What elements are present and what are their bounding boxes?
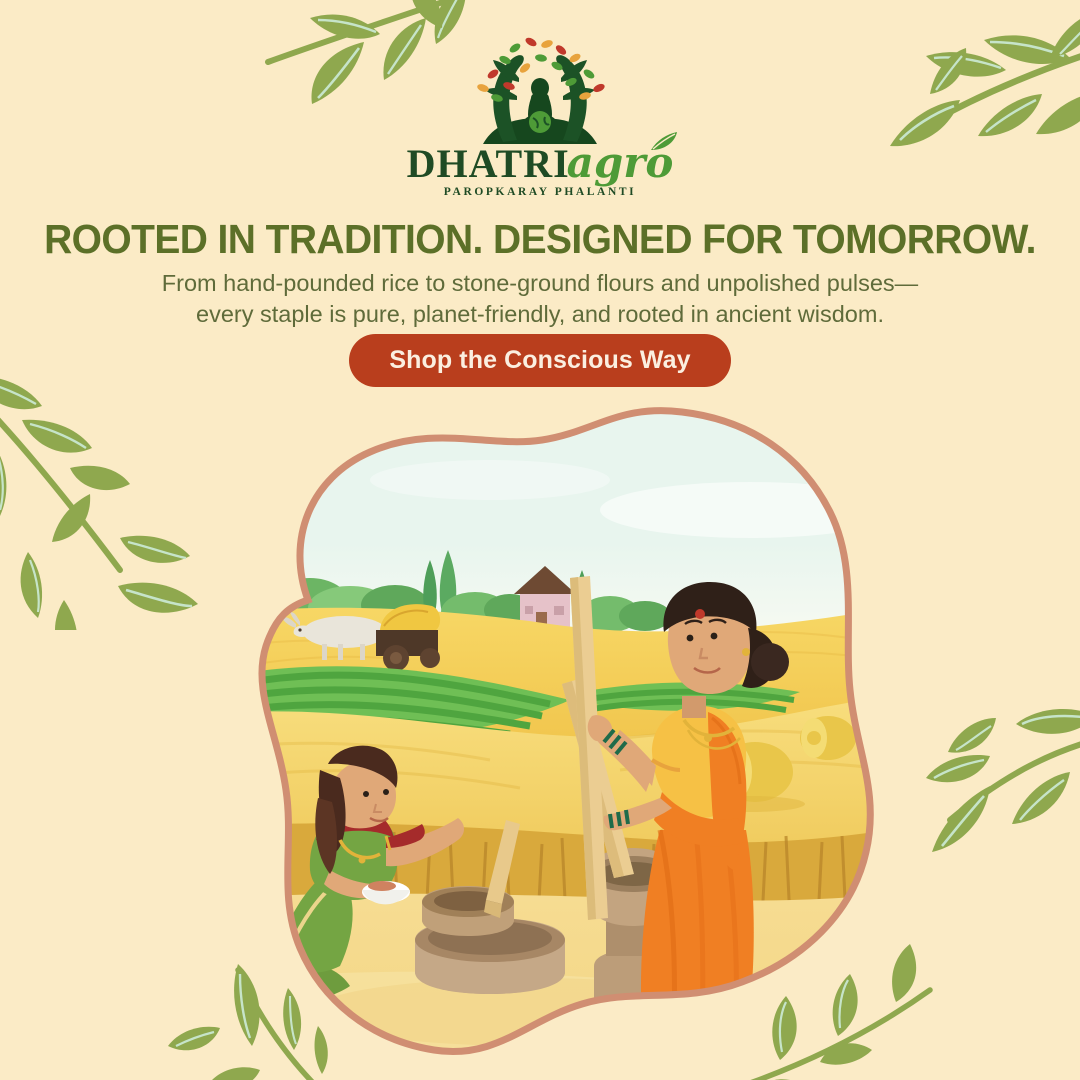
sprout-leaf-icon [649, 130, 679, 152]
brand-logo[interactable]: DHATRI agro PAROPKARAY PHALANTI [0, 34, 1080, 198]
cta-row: Shop the Conscious Way [0, 334, 1080, 387]
logo-name-secondary: agro [567, 142, 674, 184]
logo-wordmark: DHATRI agro [407, 142, 674, 184]
hero-subtitle-line-1: From hand-pounded rice to stone-ground f… [0, 268, 1080, 299]
leaf-branch-left [0, 370, 210, 630]
logo-name-primary: DHATRI [407, 144, 570, 184]
tree-with-seated-woman-holding-globe-icon [465, 34, 615, 146]
logo-tagline: PAROPKARAY PHALANTI [444, 186, 636, 198]
shop-the-conscious-way-button[interactable]: Shop the Conscious Way [349, 334, 730, 387]
poster-canvas: DHATRI agro PAROPKARAY PHALANTI ROOTED I… [0, 0, 1080, 1080]
hero-subtitle-line-2: every staple is pure, planet-friendly, a… [0, 299, 1080, 330]
page-title: ROOTED IN TRADITION. DESIGNED FOR TOMORR… [27, 216, 1053, 263]
leaf-branch-right [910, 640, 1080, 870]
hero-subtitle: From hand-pounded rice to stone-ground f… [0, 268, 1080, 330]
farm-scene-illustration [190, 400, 890, 1065]
